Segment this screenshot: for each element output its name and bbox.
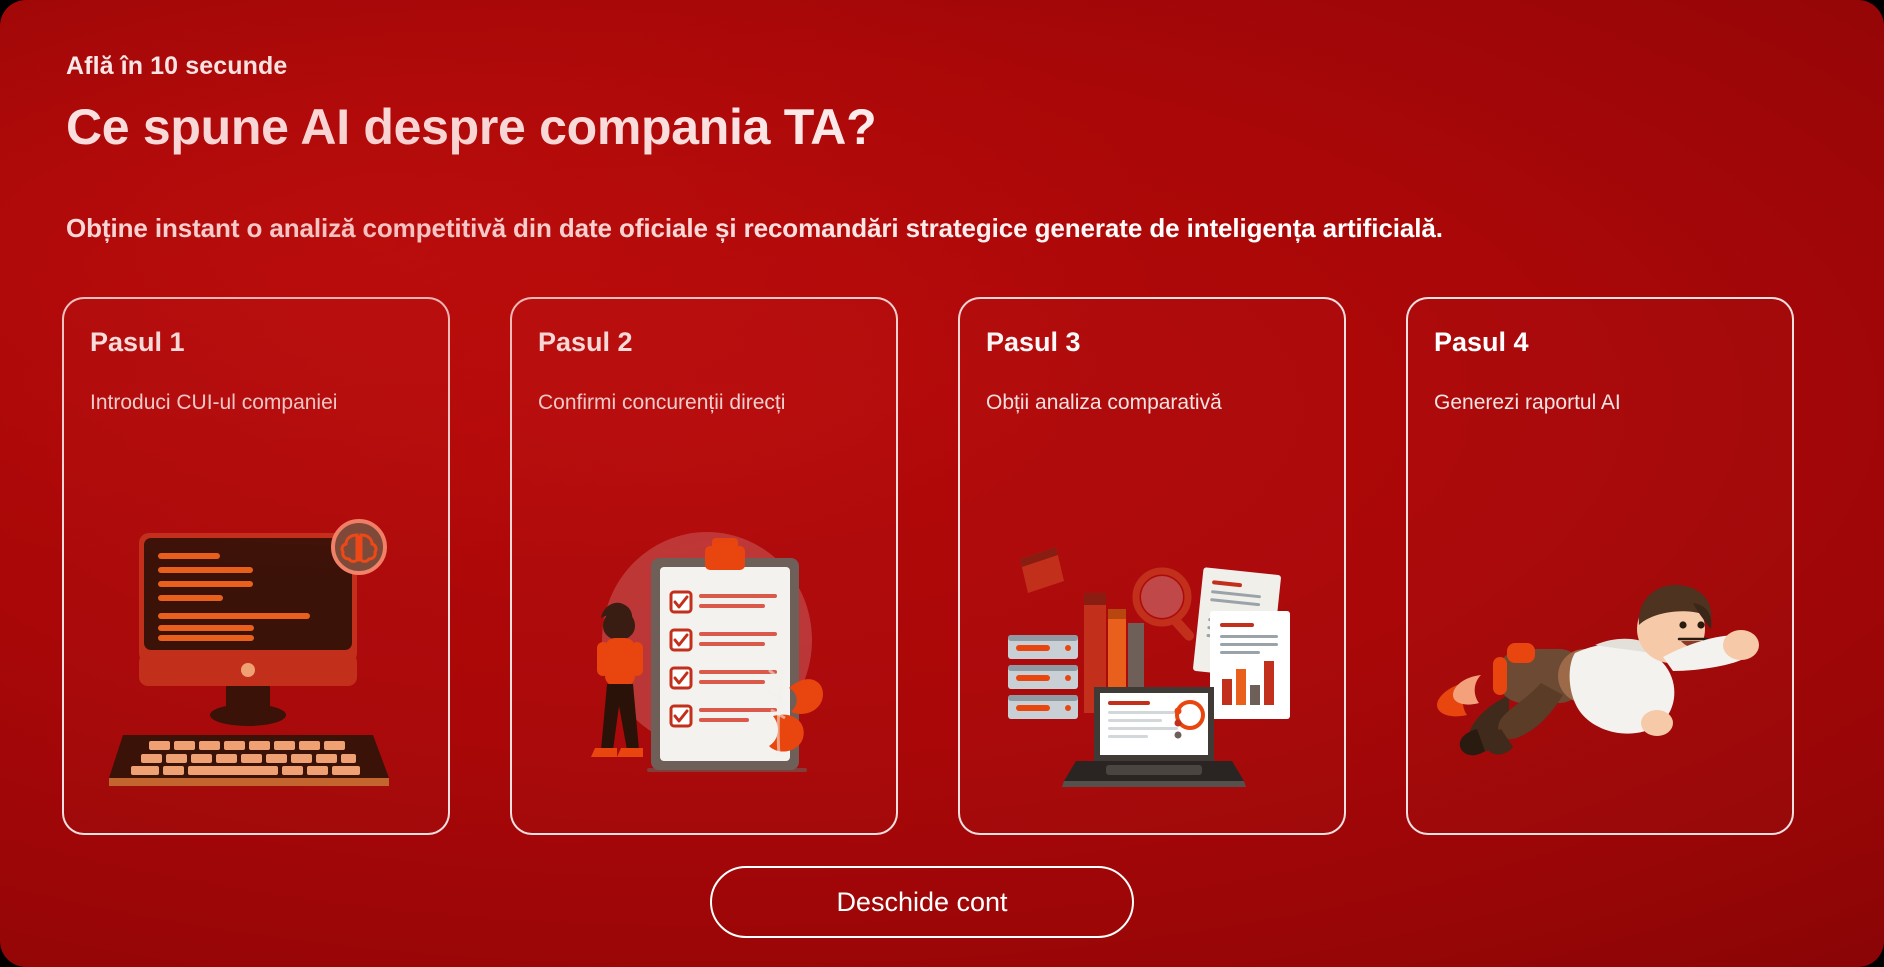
banner-subheadline: Obține instant o analiză competitivă din… [66,213,1443,244]
step-card-2-description: Confirmi concurenții direcți [538,391,876,415]
jetpack-person-icon [1408,495,1792,825]
banner-headline: Ce spune AI despre compania TA? [66,98,876,156]
banner-eyebrow: Află în 10 secunde [66,52,287,81]
checklist-clipboard-icon [512,495,896,825]
step-card-4[interactable]: Pasul 4 Generezi raportul AI [1406,297,1794,835]
step-card-1-description: Introduci CUI-ul companiei [90,391,428,415]
promo-banner: Află în 10 secunde Ce spune AI despre co… [0,0,1884,967]
step-card-3-title: Pasul 3 [986,327,1081,358]
step-card-1[interactable]: Pasul 1 Introduci CUI-ul companiei [62,297,450,835]
step-card-3-description: Obții analiza comparativă [986,391,1324,415]
data-analysis-icon [960,495,1344,825]
step-card-4-description: Generezi raportul AI [1434,391,1772,415]
desktop-computer-icon [64,495,448,825]
open-account-button[interactable]: Deschide cont [710,866,1134,938]
steps-container: Pasul 1 Introduci CUI-ul companiei [62,297,1822,835]
step-card-2-title: Pasul 2 [538,327,633,358]
step-card-3[interactable]: Pasul 3 Obții analiza comparativă [958,297,1346,835]
step-card-1-title: Pasul 1 [90,327,185,358]
step-card-4-title: Pasul 4 [1434,327,1529,358]
step-card-2[interactable]: Pasul 2 Confirmi concurenții direcți [510,297,898,835]
